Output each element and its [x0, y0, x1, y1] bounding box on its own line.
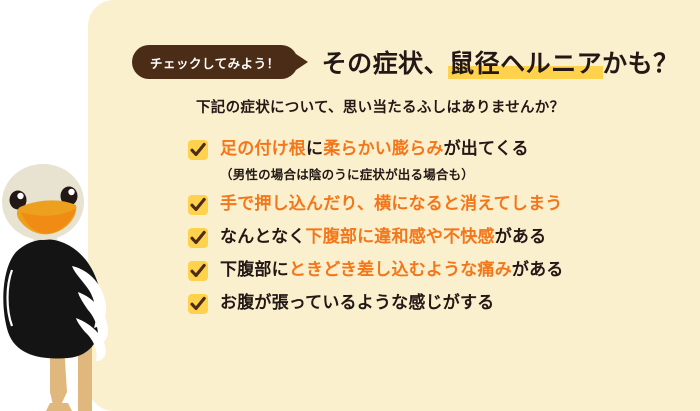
text-segment: がある	[495, 227, 547, 246]
checklist-item-line: 手で押し込んだり、横になると消えてしまう	[188, 193, 658, 216]
subtitle: 下記の症状について、思い当たるふしはありませんか？	[196, 96, 564, 117]
text-segment: 柔らかい膨らみ	[323, 139, 443, 158]
ostrich-mascot	[0, 160, 124, 411]
title-suffix: かも？	[602, 50, 679, 78]
check-badge-label: チェックしてみよう！	[150, 53, 280, 72]
checklist-item-note: （男性の場合は陰のうに症状が出る場合も）	[220, 164, 658, 183]
checkmark-icon[interactable]	[188, 140, 208, 160]
text-segment: ときどき差し込むような痛み	[289, 260, 512, 279]
text-segment: お腹が張っているような感じがする	[220, 293, 494, 312]
text-segment: に	[306, 139, 323, 158]
checkmark-icon[interactable]	[188, 195, 208, 215]
illustration-canvas: チェックしてみよう！ その症状、鼠径ヘルニアかも？ 下記の症状について、思い当た…	[0, 0, 700, 411]
text-segment: なんとなく	[220, 227, 306, 246]
text-segment: が出てくる	[444, 139, 529, 158]
text-segment: 下腹部に	[220, 260, 289, 279]
text-segment: 足の付け根	[220, 139, 306, 158]
title-prefix: その症状、	[322, 50, 450, 78]
checklist-item-line: お腹が張っているような感じがする	[188, 292, 658, 315]
checklist-item-text: なんとなく下腹部に違和感や不快感がある	[220, 226, 546, 249]
title-highlight: 鼠径ヘルニア	[449, 44, 602, 80]
checklist-item-text: 下腹部にときどき差し込むような痛みがある	[220, 259, 564, 282]
checklist-item-text: 足の付け根に柔らかい膨らみが出てくる	[220, 138, 529, 161]
checklist-item[interactable]: 足の付け根に柔らかい膨らみが出てくる（男性の場合は陰のうに症状が出る場合も）	[188, 138, 658, 183]
checkmark-icon[interactable]	[188, 261, 208, 281]
text-segment: がある	[512, 260, 564, 279]
checklist-item[interactable]: なんとなく下腹部に違和感や不快感がある	[188, 226, 658, 249]
symptom-checklist: 足の付け根に柔らかい膨らみが出てくる（男性の場合は陰のうに症状が出る場合も）手で…	[188, 138, 658, 325]
checkmark-icon[interactable]	[188, 294, 208, 314]
text-segment: 手で押し込んだり、横になると消えてしまう	[220, 194, 562, 213]
check-badge: チェックしてみよう！	[132, 45, 298, 79]
checklist-item-text: 手で押し込んだり、横になると消えてしまう	[220, 193, 562, 216]
page-title: その症状、鼠径ヘルニアかも？	[322, 44, 679, 80]
checklist-item-line: 足の付け根に柔らかい膨らみが出てくる	[188, 138, 658, 161]
text-segment: 下腹部に違和感や不快感	[306, 227, 495, 246]
checklist-item-line: 下腹部にときどき差し込むような痛みがある	[188, 259, 658, 282]
checklist-item-line: なんとなく下腹部に違和感や不快感がある	[188, 226, 658, 249]
checklist-item-text: お腹が張っているような感じがする	[220, 292, 494, 315]
checklist-item[interactable]: 下腹部にときどき差し込むような痛みがある	[188, 259, 658, 282]
checklist-item[interactable]: 手で押し込んだり、横になると消えてしまう	[188, 193, 658, 216]
header-row: チェックしてみよう！ その症状、鼠径ヘルニアかも？	[132, 40, 679, 84]
checklist-item[interactable]: お腹が張っているような感じがする	[188, 292, 658, 315]
checkmark-icon[interactable]	[188, 228, 208, 248]
